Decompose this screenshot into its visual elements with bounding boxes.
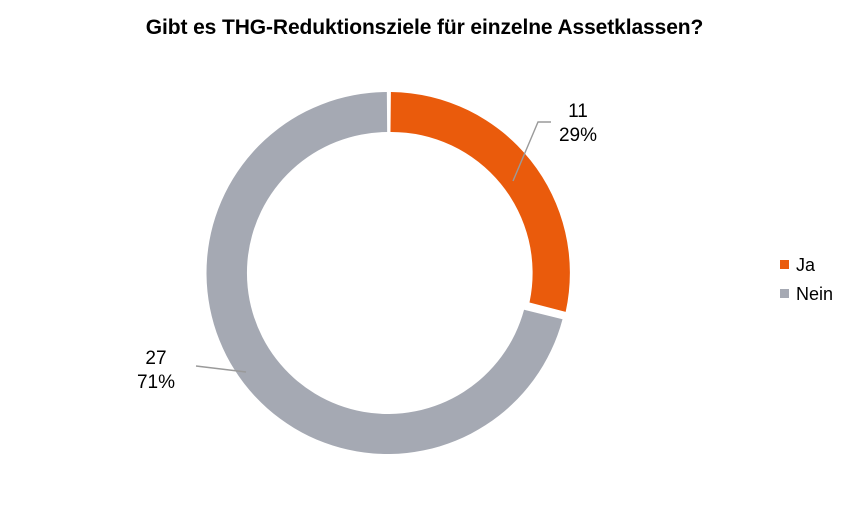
data-label-nein-percent: 71% — [118, 371, 194, 395]
chart-plot-area — [0, 0, 849, 510]
donut-chart: Gibt es THG-Reduktionsziele für einzelne… — [0, 0, 849, 510]
legend-label-ja: Ja — [796, 256, 815, 274]
legend-item-nein[interactable]: Nein — [780, 279, 833, 308]
data-label-ja-value: 11 — [540, 100, 616, 124]
data-label-ja-percent: 29% — [540, 124, 616, 148]
legend-swatch-ja-icon — [780, 260, 789, 269]
chart-legend: Ja Nein — [780, 250, 833, 308]
data-label-nein-value: 27 — [118, 347, 194, 371]
data-label-ja: 11 29% — [540, 100, 616, 148]
legend-item-ja[interactable]: Ja — [780, 250, 833, 279]
legend-swatch-nein-icon — [780, 289, 789, 298]
legend-label-nein: Nein — [796, 285, 833, 303]
data-label-nein: 27 71% — [118, 347, 194, 395]
